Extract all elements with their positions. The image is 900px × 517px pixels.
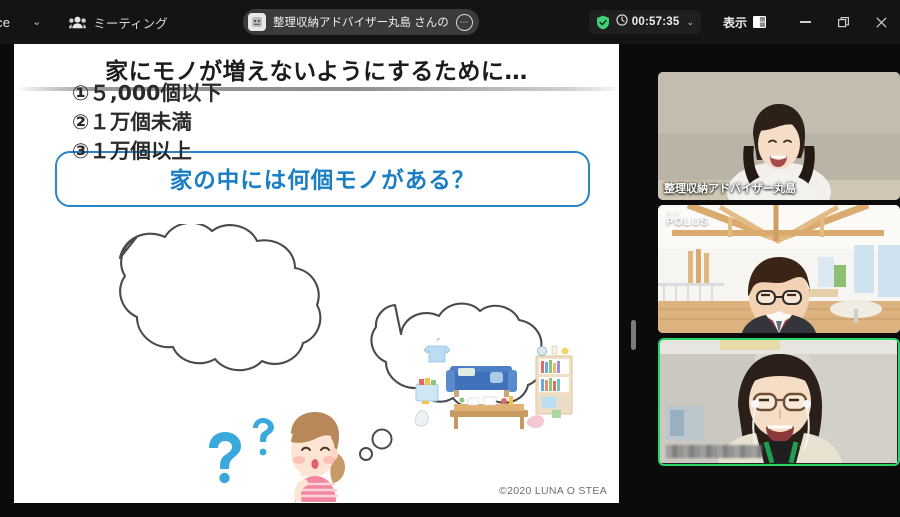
restore-icon xyxy=(838,17,849,28)
meeting-status-group[interactable]: 00:57:35 ⌄ xyxy=(589,10,701,34)
thinking-person-illustration xyxy=(199,412,379,502)
close-button[interactable] xyxy=(862,0,900,44)
answer-option-3: ③１万個以上 xyxy=(72,137,322,166)
low-table-icon xyxy=(450,396,528,429)
video-tile-1[interactable]: 整理収納アドバイザー丸島 xyxy=(658,72,900,200)
thought-bubble-answers xyxy=(58,224,378,399)
more-options-icon[interactable]: ⋯ xyxy=(456,14,473,31)
answer-options-list: ①５,000個以下 ②１万個未満 ③１万個以上 xyxy=(72,79,322,166)
participant-name-1: 整理収納アドバイザー丸島 xyxy=(664,180,796,196)
room-illustration xyxy=(412,334,587,439)
titlebar-right-group: 00:57:35 ⌄ 表示 xyxy=(589,0,900,44)
participant-video-rail: 整理収納アドバイザー丸島 xyxy=(640,44,900,517)
meeting-entry[interactable]: ミーティング xyxy=(69,13,167,32)
layout-icon xyxy=(753,16,766,28)
titlebar-left-group: ce ⌄ ミーティング xyxy=(0,13,168,32)
restore-button[interactable] xyxy=(824,0,862,44)
blurred-name-overlay xyxy=(666,445,762,458)
video-tile-2[interactable]: ポラス POLUS xyxy=(658,205,900,333)
shared-content-stage[interactable]: 家にモノが増えないようにするために… 家の中には何個モノがある？ ①５,000個… xyxy=(0,44,633,517)
people-icon xyxy=(69,16,86,29)
view-switcher[interactable]: 表示 xyxy=(723,14,766,31)
question-text: 家の中には何個モノがある？ xyxy=(170,163,476,195)
title-bar: ce ⌄ ミーティング xyxy=(0,0,900,44)
view-label: 表示 xyxy=(723,14,747,31)
watermark-text: POLUS xyxy=(666,216,709,228)
video-tile-3-active-speaker[interactable] xyxy=(658,338,900,466)
answer-option-2: ②１万個未満 xyxy=(72,108,322,137)
copyright-text: ©2020 LUNA O STEA xyxy=(499,485,607,497)
polus-watermark: ポラス POLUS xyxy=(666,211,709,228)
shield-check-icon xyxy=(596,15,610,30)
timer-chevron-down-icon[interactable]: ⌄ xyxy=(686,17,694,28)
minimize-button[interactable] xyxy=(786,0,824,44)
timer-text: 00:57:35 xyxy=(632,16,680,28)
meeting-window: ce ⌄ ミーティング xyxy=(0,0,900,517)
meeting-timer: 00:57:35 xyxy=(616,13,680,31)
presentation-slide: 家にモノが増えないようにするために… 家の中には何個モノがある？ ①５,000個… xyxy=(14,44,619,503)
close-icon xyxy=(876,17,887,28)
window-controls xyxy=(786,0,900,44)
panel-resize-handle[interactable] xyxy=(631,320,636,350)
shared-content-pill[interactable]: 整理収納アドバイザー丸島 さんの ⋯ xyxy=(243,9,479,35)
chevron-down-icon[interactable]: ⌄ xyxy=(32,17,41,28)
sofa-icon xyxy=(446,366,517,397)
question-mark-small-icon xyxy=(253,418,274,455)
meeting-label: ミーティング xyxy=(93,13,167,32)
shared-content-label: 整理収納アドバイザー丸島 さんの xyxy=(273,14,449,30)
app-name-label: ce xyxy=(0,15,10,30)
bag-icon xyxy=(415,410,428,426)
minimize-icon xyxy=(800,21,811,23)
question-mark-icon xyxy=(209,432,241,483)
shirt-icon xyxy=(424,339,450,362)
clock-icon xyxy=(616,13,628,31)
app-icon xyxy=(248,13,266,31)
toy-box-icon xyxy=(416,378,438,404)
bookshelf-icon xyxy=(536,346,572,414)
answer-option-1: ①５,000個以下 xyxy=(72,79,322,108)
